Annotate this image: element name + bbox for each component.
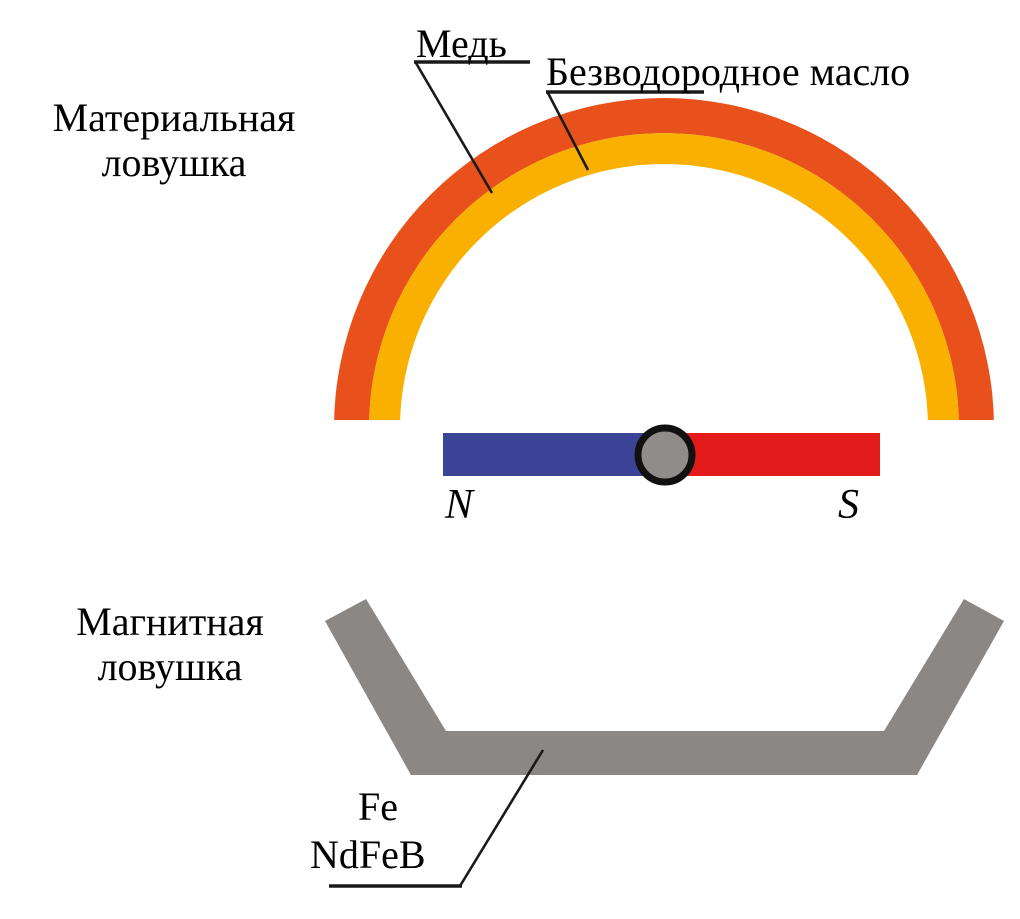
arc-end-cap-left	[333, 420, 401, 428]
magnet-south-half	[665, 433, 880, 476]
trough-body	[325, 599, 1004, 775]
arc-end-cap-right	[927, 420, 995, 428]
label-material-trap: Материальная ловушка	[18, 96, 330, 186]
diagram-canvas: Материальная ловушка Магнитная ловушка М…	[0, 0, 1020, 919]
label-copper: Медь	[416, 22, 507, 67]
label-ndfeb: NdFeB	[310, 833, 426, 878]
label-magnetic-trap: Магнитная ловушка	[20, 600, 320, 690]
label-hydrogen-free-oil: Безводородное масло	[546, 50, 910, 95]
label-magnetic-trap-line2: ловушка	[20, 645, 320, 690]
label-material-trap-line1: Материальная	[18, 96, 330, 141]
label-pole-north: N	[445, 482, 473, 529]
pivot-disc-icon	[638, 428, 692, 482]
bar-magnet-group	[443, 428, 880, 482]
label-material-trap-line2: ловушка	[18, 141, 330, 186]
label-fe: Fe	[358, 785, 398, 830]
magnet-north-half	[443, 433, 665, 476]
material-trap-arc-group	[333, 98, 995, 428]
label-magnetic-trap-line1: Магнитная	[20, 600, 320, 645]
label-pole-south: S	[838, 482, 859, 529]
magnetic-trough-group	[325, 599, 1004, 775]
